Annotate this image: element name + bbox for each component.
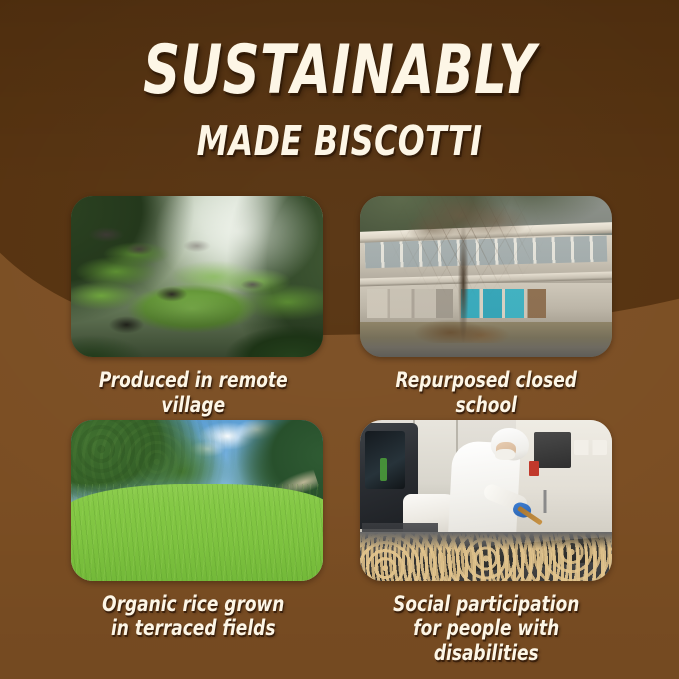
village-foreground-foliage — [71, 196, 323, 357]
photo-closed-school — [360, 196, 612, 357]
photo-social-participation — [360, 420, 612, 581]
page-title: SUSTAINABLY — [54, 38, 624, 105]
field-paddy-texture — [71, 484, 323, 581]
school-tree-branches — [360, 196, 612, 357]
caption-terraced-fields: Organic rice grown in terraced fields — [102, 592, 284, 642]
feature-card-terraced-fields: Organic rice grown in terraced fields — [62, 420, 325, 666]
feature-grid: Produced in remote village Repurposed cl… — [62, 196, 617, 666]
photo-remote-village — [71, 196, 323, 357]
caption-social-participation: Social participation for people with dis… — [368, 592, 604, 666]
caption-remote-village: Produced in remote village — [75, 368, 311, 418]
feature-card-social-participation: Social participation for people with dis… — [355, 420, 618, 666]
page-subtitle: MADE BISCOTTI — [48, 121, 632, 162]
photo-terraced-fields — [71, 420, 323, 581]
poster-root: SUSTAINABLY MADE BISCOTTI Produced in re… — [0, 0, 679, 679]
feature-card-closed-school: Repurposed closed school — [355, 196, 618, 418]
caption-closed-school: Repurposed closed school — [368, 368, 604, 418]
biscotti-pieces — [360, 420, 612, 581]
heading-block: SUSTAINABLY MADE BISCOTTI — [0, 38, 679, 162]
feature-card-remote-village: Produced in remote village — [62, 196, 325, 418]
